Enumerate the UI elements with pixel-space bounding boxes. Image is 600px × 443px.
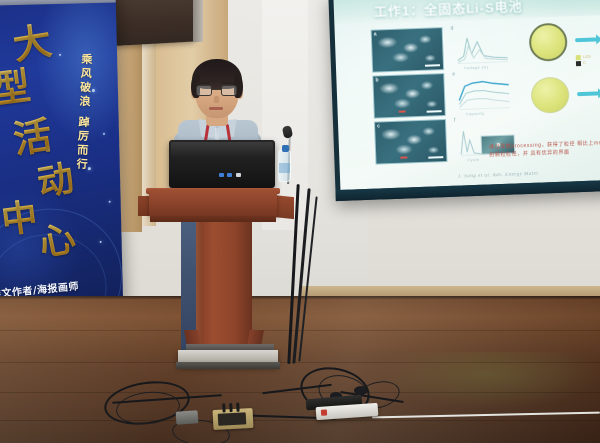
glasses-lens-right — [221, 85, 237, 96]
power-adapter — [176, 410, 199, 425]
speaker-collar-left — [198, 119, 217, 139]
banner-sparkle — [100, 241, 102, 243]
qr-center-logo — [95, 331, 104, 340]
banner-char-4: 动 — [33, 149, 78, 207]
bottle-cap — [282, 145, 289, 152]
cable-coil-bundle — [354, 386, 368, 395]
floor-socket-plug-1 — [222, 403, 225, 412]
line-plot-d: d Voltage (V) — [451, 25, 515, 70]
floor-color-cast — [380, 352, 600, 408]
floor-cable-run-3 — [262, 384, 332, 395]
floor-socket-box[interactable] — [213, 408, 254, 430]
floor-cable-white — [372, 412, 600, 419]
slide-citation: J. Song et al. Adv. Energy Mater. — [458, 169, 600, 179]
banner-leg-left — [10, 368, 40, 380]
speaker-hair — [192, 59, 242, 89]
cable-coil-bundle-2 — [330, 392, 342, 400]
process-arrow-1 — [575, 37, 597, 42]
particle-circle-coated — [529, 23, 568, 62]
speaker-trousers-shadow — [196, 218, 216, 348]
speaker-ear-left — [191, 88, 197, 99]
sem-micrograph-c: c — [374, 119, 448, 165]
plot-curves-e — [456, 75, 511, 111]
speaker-eyebrow-left — [197, 82, 210, 85]
floor-socket-inner — [218, 412, 247, 425]
monitor-led-2 — [227, 173, 232, 177]
scale-bar — [427, 110, 442, 113]
floor-socket-plug-2 — [229, 403, 232, 412]
banner-credit-line-2: 物理与电子科学学院 — [0, 300, 82, 324]
plot-caption-d: Voltage (V) — [464, 64, 488, 70]
speaker-neck — [206, 108, 228, 126]
scale-bar — [428, 156, 443, 159]
projected-slide: 工作1：全固态Li-S电池 a b c — [333, 0, 600, 190]
plot-curves-d — [455, 29, 510, 65]
power-strip-switch — [321, 409, 327, 415]
podium-flare-right — [246, 330, 264, 352]
microphone-icon — [282, 125, 293, 139]
microphone-stand — [287, 132, 291, 184]
banner-slogan: 乘风破浪 踔厉而行 — [74, 53, 94, 172]
wall-cable-1 — [287, 184, 299, 364]
speaker-ear-right — [237, 88, 243, 99]
sem-image-column: a b c — [371, 27, 448, 168]
plot-caption-e: Capacity — [466, 111, 485, 117]
banner-credit-line-1: 推文作者/海报画师 — [0, 277, 79, 300]
particle-schematic: Li2S C — [524, 15, 600, 136]
lecture-hall-photo: 工作1：全固态Li-S电池 a b c — [0, 0, 600, 443]
banner-sparkle — [109, 201, 111, 203]
wall-cable-2 — [292, 188, 310, 364]
podium-side-right — [272, 195, 294, 219]
panel-tag-d: d — [451, 26, 454, 32]
speaker-nose — [214, 96, 219, 103]
wall-wood-strip-2 — [142, 0, 156, 226]
podium-column — [196, 222, 252, 350]
speaker-trousers — [181, 218, 215, 350]
sem-micrograph-a: a — [371, 27, 445, 73]
red-marker — [400, 156, 407, 158]
plot-caption-f: Cycle — [467, 157, 479, 162]
floor-cable-run-4 — [340, 391, 404, 403]
process-arrow-2 — [577, 91, 599, 96]
panel-tag-f: f — [454, 118, 456, 124]
floor-plank-line — [0, 420, 600, 421]
scale-bar — [425, 64, 440, 67]
monitor-screen-sheen — [171, 142, 273, 158]
speaker-mouth — [209, 107, 223, 110]
speaker-hair-side-right — [234, 74, 243, 98]
floor-plank-line — [0, 392, 600, 393]
schematic-legend: Li2S C — [576, 54, 591, 67]
banner-sparkle — [103, 133, 105, 135]
monitor-led-1 — [219, 173, 224, 177]
slide-annotation-text: 通过球磨processing，获得了粒径 相比上mm的颗粒粒径，并 具有优异的界… — [489, 139, 600, 159]
qr-finder-top-right — [103, 320, 113, 330]
banner-sparkle — [59, 54, 61, 56]
speaker-eyebrow-right — [221, 82, 234, 85]
legend-label-carbon: C — [583, 60, 586, 66]
qr-finder-top-left — [84, 321, 94, 331]
dark-wall-panel — [104, 0, 194, 47]
speaker-collar-right — [217, 119, 236, 139]
panel-tag-c: c — [377, 123, 380, 129]
glasses-lens-left — [196, 85, 212, 96]
speaker-head — [195, 64, 239, 118]
bottle-label — [279, 163, 290, 173]
panel-tag-a: a — [374, 31, 377, 37]
wall-plaster-panel-highlight — [262, 0, 308, 230]
banner-foot-cassette — [6, 357, 118, 373]
line-plot-e: e Capacity — [452, 70, 516, 115]
speaker-hair-side-left — [191, 74, 200, 98]
podium-flare-left — [184, 330, 202, 352]
banner-top-rail — [0, 0, 116, 6]
power-strip[interactable] — [316, 403, 379, 420]
glasses-icon — [195, 85, 239, 97]
red-marker — [398, 110, 405, 112]
banner-char-6: 心 — [34, 209, 80, 267]
floor-socket-plug-3 — [236, 403, 239, 412]
podium-base-shadow — [176, 362, 280, 369]
floor-cable-run-1 — [112, 394, 222, 404]
podium-base — [178, 350, 278, 366]
glasses-bridge — [212, 89, 222, 90]
legend-row-carbon: C — [576, 60, 591, 67]
monitor-led-3 — [236, 173, 241, 177]
water-bottle — [278, 150, 291, 182]
panel-tag-e: e — [452, 72, 455, 78]
desktop-monitor — [169, 140, 275, 188]
podium-side-left — [138, 196, 154, 216]
projection-screen-frame: 工作1：全固态Li-S电池 a b c — [328, 0, 600, 201]
legend-swatch-carbon — [576, 61, 581, 66]
banner-leg-right — [62, 370, 92, 382]
floor-cable-loop-1 — [101, 376, 192, 430]
rollup-banner: 大 型 活 动 中 心 乘风破浪 踔厉而行 推文作者/海报画师 物理与电子科学学… — [0, 0, 124, 358]
panel-tag-b: b — [375, 77, 378, 83]
floor-cable-loop-2 — [115, 389, 182, 428]
wall-cable-3 — [298, 196, 317, 361]
legend-swatch-particle — [576, 55, 581, 60]
dark-wall-panel-edge — [193, 0, 203, 42]
podium-base-top — [186, 344, 274, 352]
sem-micrograph-b: b — [372, 73, 446, 119]
wall-baseboard — [300, 286, 600, 298]
qr-finder-bottom-left — [85, 340, 95, 350]
particle-circle-bare — [530, 76, 569, 113]
podium-shelf — [150, 216, 276, 222]
slide-title: 工作1：全固态Li-S电池 — [334, 0, 523, 22]
floor-plank-line — [0, 362, 600, 363]
qr-code[interactable] — [81, 317, 118, 354]
